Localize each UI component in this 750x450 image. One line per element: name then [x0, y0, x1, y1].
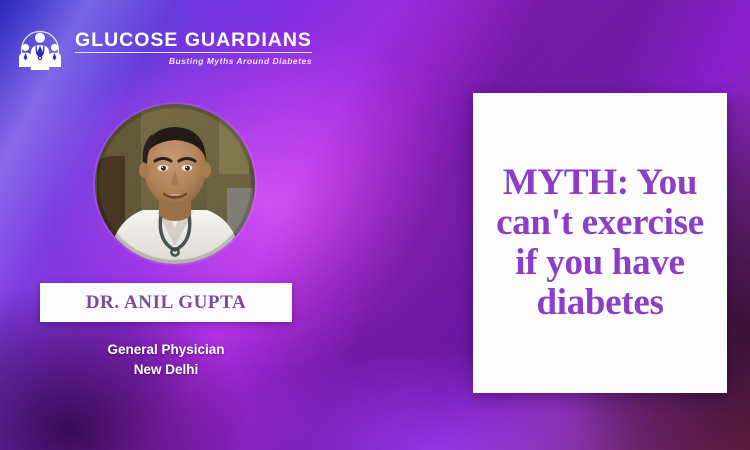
- doctor-location: New Delhi: [40, 360, 292, 380]
- doctor-name-banner: DR. ANIL GUPTA: [40, 283, 292, 322]
- myth-statement-card: MYTH: You can't exercise if you have dia…: [473, 93, 727, 393]
- brand-name: GLUCOSE GUARDIANS: [75, 30, 312, 53]
- brand-tagline: Busting Myths Around Diabetes: [169, 56, 312, 66]
- doctor-credentials: General Physician New Delhi: [40, 340, 292, 379]
- three-doctors-circle-icon: [14, 22, 66, 74]
- doctor-name: DR. ANIL GUPTA: [86, 292, 247, 314]
- doctor-portrait-photo: [95, 104, 255, 264]
- brand-logo-text: GLUCOSE GUARDIANS Busting Myths Around D…: [75, 30, 312, 66]
- social-media-graphic: GLUCOSE GUARDIANS Busting Myths Around D…: [0, 0, 750, 450]
- myth-statement-text: MYTH: You can't exercise if you have dia…: [481, 163, 719, 323]
- brand-logo: GLUCOSE GUARDIANS Busting Myths Around D…: [14, 22, 312, 74]
- doctor-specialty: General Physician: [40, 340, 292, 360]
